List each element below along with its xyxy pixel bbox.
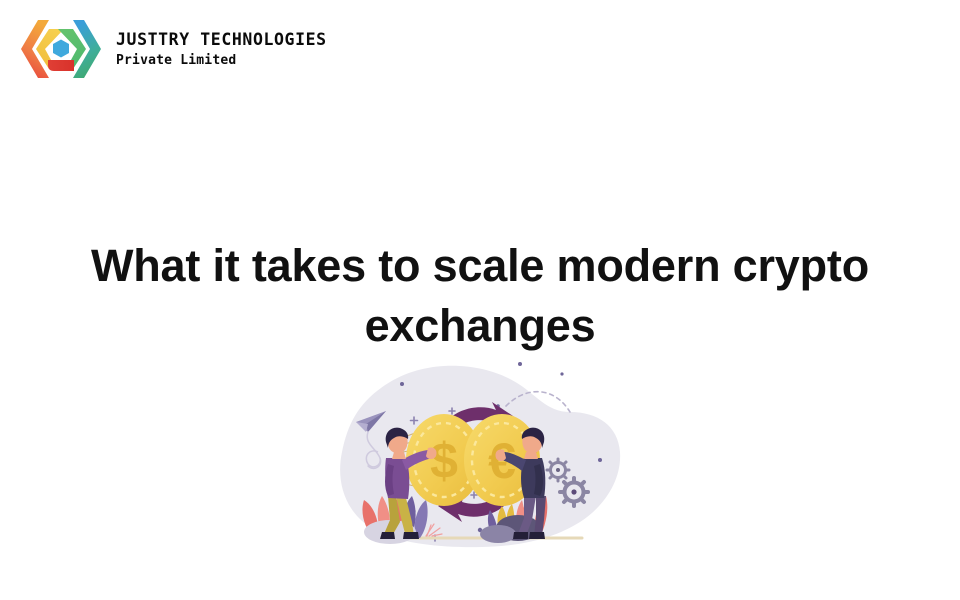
logo-mark[interactable] — [18, 18, 104, 80]
illustration-container: $ € — [330, 360, 630, 575]
site-header: JUSTTRY TECHNOLOGIES Private Limited — [18, 18, 327, 80]
company-name: JUSTTRY TECHNOLOGIES — [116, 31, 327, 50]
justtry-hexagon-logo-icon — [18, 18, 104, 80]
currency-exchange-illustration: $ € — [330, 360, 630, 575]
logo-text-block: JUSTTRY TECHNOLOGIES Private Limited — [116, 29, 327, 69]
company-suffix: Private Limited — [116, 53, 327, 69]
page-title: What it takes to scale modern crypto exc… — [50, 236, 910, 355]
dollar-symbol: $ — [430, 433, 458, 489]
